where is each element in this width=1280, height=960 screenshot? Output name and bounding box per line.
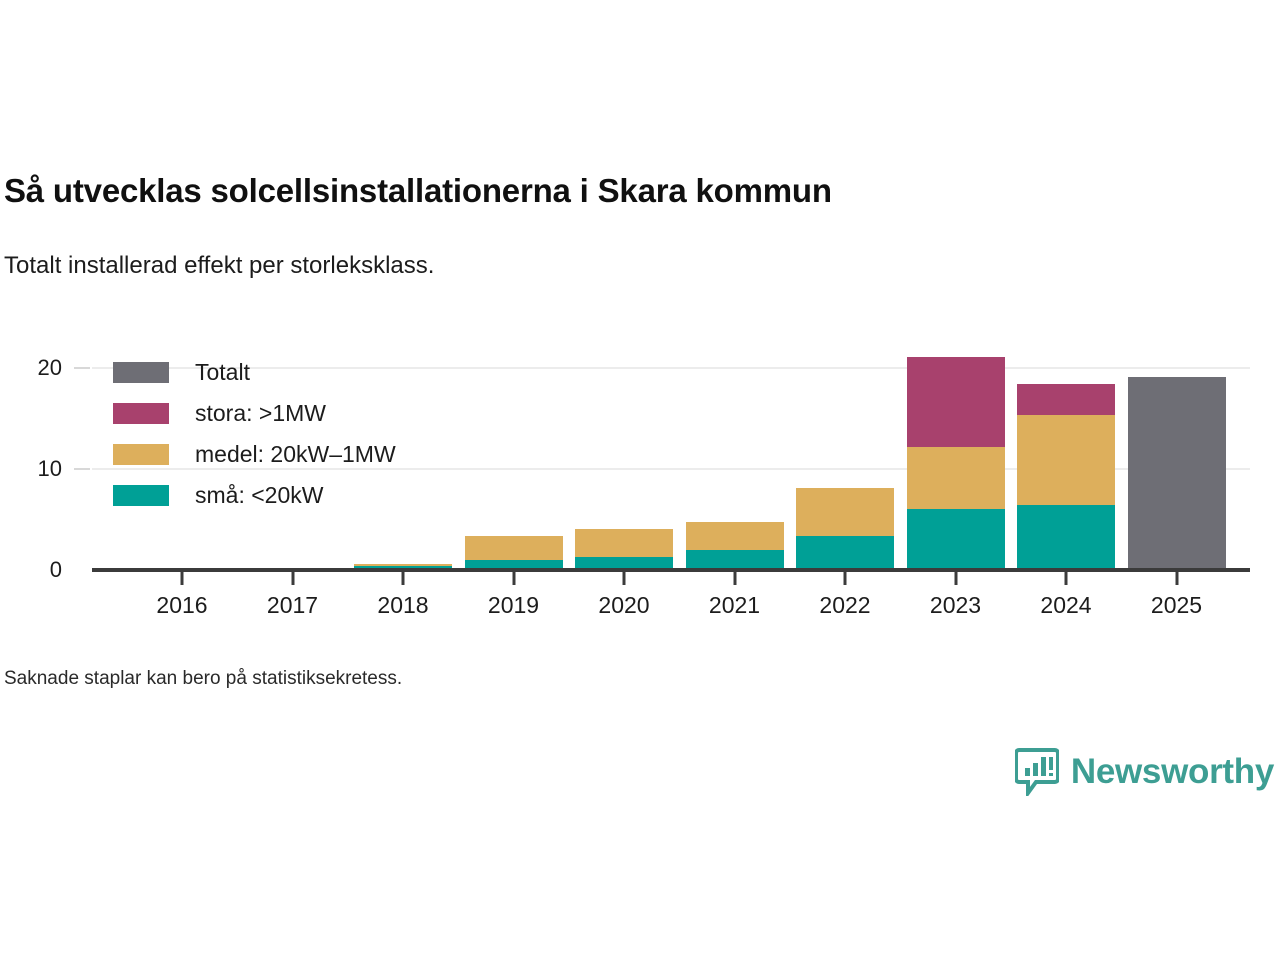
x-axis-tick-mark-2019 <box>512 572 515 585</box>
bar-group-2021[interactable] <box>686 522 784 568</box>
x-axis-tick-mark-2021 <box>733 572 736 585</box>
legend-swatch-large <box>113 403 169 424</box>
x-axis-tick-mark-2023 <box>954 572 957 585</box>
legend-label-small: små: <20kW <box>195 482 323 509</box>
legend-label-total: Totalt <box>195 359 250 386</box>
bar-chart-speech-bubble-icon <box>1015 748 1059 796</box>
bar-segment-small-2020[interactable] <box>575 557 673 568</box>
bar-segment-small-2022[interactable] <box>796 536 894 568</box>
bar-group-2024[interactable] <box>1017 384 1115 568</box>
bar-segment-small-2021[interactable] <box>686 550 784 568</box>
x-axis-tick-mark-2018 <box>402 572 405 585</box>
page-title: Så utvecklas solcellsinstallationerna i … <box>4 172 832 210</box>
x-axis-tick-mark-2020 <box>623 572 626 585</box>
x-axis-tick-mark-2022 <box>844 572 847 585</box>
bar-segment-medium-2022[interactable] <box>796 488 894 536</box>
x-axis-tick-mark-2016 <box>181 572 184 585</box>
legend-label-large: stora: >1MW <box>195 400 326 427</box>
bar-segment-total-2025[interactable] <box>1128 377 1226 568</box>
bar-segment-medium-2023[interactable] <box>907 447 1005 508</box>
x-axis-tick-label-2016: 2016 <box>122 592 242 619</box>
x-axis-tick-label-2022: 2022 <box>785 592 905 619</box>
x-axis-tick-mark-2017 <box>291 572 294 585</box>
bar-segment-medium-2019[interactable] <box>465 536 563 560</box>
legend-swatch-small <box>113 485 169 506</box>
bar-segment-medium-2024[interactable] <box>1017 415 1115 504</box>
legend-swatch-medium <box>113 444 169 465</box>
chart-legend: Totaltstora: >1MWmedel: 20kW–1MWsmå: <20… <box>113 352 473 516</box>
x-axis-tick-label-2024: 2024 <box>1006 592 1126 619</box>
x-axis-tick-label-2023: 2023 <box>896 592 1016 619</box>
bar-segment-large-2023[interactable] <box>907 357 1005 447</box>
bar-group-2020[interactable] <box>575 529 673 568</box>
bar-segment-small-2024[interactable] <box>1017 505 1115 568</box>
x-axis-tick-mark-2024 <box>1065 572 1068 585</box>
x-axis-tick-label-2021: 2021 <box>675 592 795 619</box>
newsworthy-logo: Newsworthy <box>1015 748 1274 796</box>
x-axis-tick-label-2019: 2019 <box>454 592 574 619</box>
x-axis-tick-label-2017: 2017 <box>233 592 353 619</box>
x-axis-tick-mark-2025 <box>1175 572 1178 585</box>
bar-group-2022[interactable] <box>796 488 894 568</box>
legend-item-medium[interactable]: medel: 20kW–1MW <box>113 434 473 475</box>
x-axis-tick-label-2025: 2025 <box>1117 592 1237 619</box>
bar-segment-small-2023[interactable] <box>907 509 1005 568</box>
x-axis-ticks: 2016201720182019202020212022202320242025 <box>0 572 1280 632</box>
x-axis-tick-label-2018: 2018 <box>343 592 463 619</box>
chart-page: Så utvecklas solcellsinstallationerna i … <box>0 0 1280 960</box>
bar-group-2019[interactable] <box>465 536 563 568</box>
legend-label-medium: medel: 20kW–1MW <box>195 441 396 468</box>
x-axis-tick-label-2020: 2020 <box>564 592 684 619</box>
legend-item-small[interactable]: små: <20kW <box>113 475 473 516</box>
bar-segment-medium-2020[interactable] <box>575 529 673 557</box>
bar-segment-small-2019[interactable] <box>465 560 563 568</box>
legend-swatch-total <box>113 362 169 383</box>
bar-segment-large-2024[interactable] <box>1017 384 1115 415</box>
bar-group-2023[interactable] <box>907 357 1005 568</box>
legend-item-total[interactable]: Totalt <box>113 352 473 393</box>
logo-wordmark: Newsworthy <box>1071 752 1274 792</box>
chart-subtitle: Totalt installerad effekt per storlekskl… <box>4 252 434 280</box>
bar-group-2025[interactable] <box>1128 377 1226 568</box>
legend-item-large[interactable]: stora: >1MW <box>113 393 473 434</box>
bar-segment-medium-2021[interactable] <box>686 522 784 550</box>
footnote-text: Saknade staplar kan bero på statistiksek… <box>4 668 402 690</box>
